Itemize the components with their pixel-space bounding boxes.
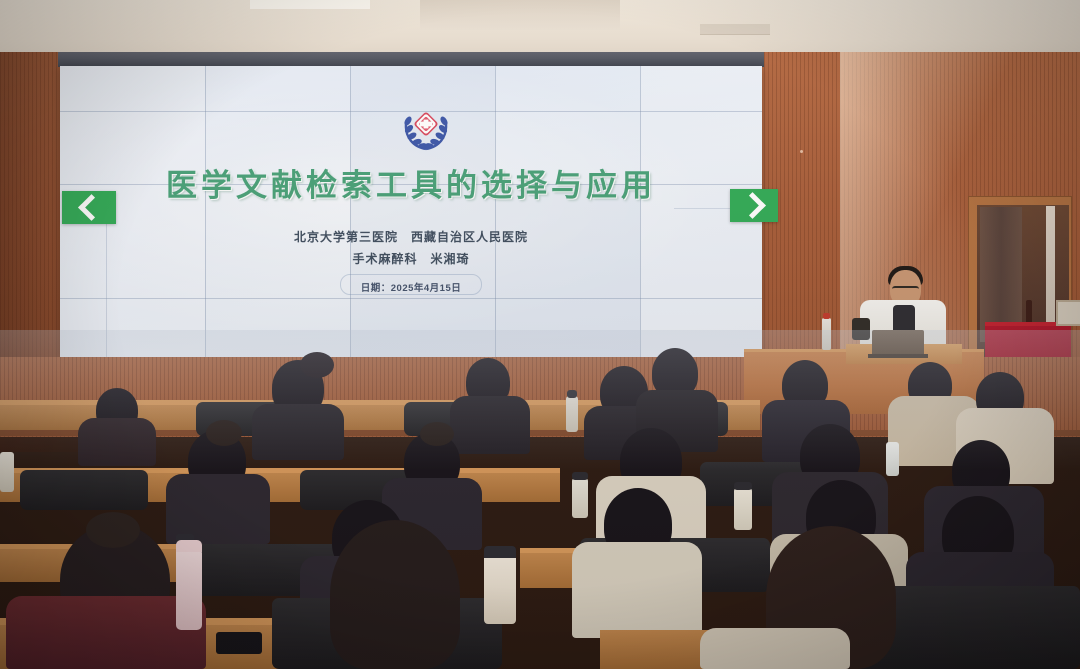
panel-seam: [60, 298, 762, 299]
panel-seam: [205, 66, 206, 357]
travel-mug: [484, 554, 516, 624]
screen-mount-beam: [58, 52, 764, 67]
thermos: [566, 396, 578, 432]
pink-thermos: [176, 548, 202, 630]
travel-mug: [572, 478, 588, 518]
panel-seam: [495, 66, 496, 357]
ceiling-light: [250, 0, 370, 9]
audience-hair-bun: [206, 420, 242, 446]
smartphone: [216, 632, 262, 654]
water-bottle: [886, 442, 899, 476]
pink-thermos-cap: [176, 540, 202, 552]
slide-date: 日期：2025年4月15日: [60, 280, 762, 294]
wall-speck: [800, 150, 803, 153]
audience-torso: [450, 396, 530, 454]
water-bottle: [822, 318, 831, 350]
thermos-cap: [567, 390, 577, 398]
audience-torso: [252, 404, 344, 460]
panel-seam: [350, 66, 351, 357]
hospital-emblem-laurel-cross-icon: [397, 103, 455, 153]
ceiling-vent: [700, 24, 770, 35]
audience-hair-bun: [86, 512, 140, 548]
bottle-cap: [823, 313, 830, 319]
chevron-left-icon: [78, 194, 105, 221]
slide-title: 医学文献检索工具的选择与应用: [60, 160, 762, 205]
laptop-base: [868, 354, 928, 358]
microphone: [852, 318, 870, 340]
travel-mug: [734, 488, 752, 530]
chair-back: [20, 470, 148, 510]
alcove-box: [1056, 300, 1080, 326]
audience-hair-bun: [420, 422, 454, 446]
audience-torso-beige: [572, 542, 702, 638]
prev-slide-button[interactable]: [62, 191, 116, 224]
next-slide-button[interactable]: [730, 189, 778, 222]
panel-seam: [640, 66, 641, 357]
slide-affiliation: 北京大学第三医院 西藏自治区人民医院: [60, 228, 762, 245]
audience-hair-bun: [300, 352, 334, 378]
travel-mug-lid: [572, 472, 588, 480]
ceiling-panel: [420, 0, 620, 30]
travel-mug-lid: [734, 482, 752, 490]
audience-head: [330, 520, 460, 669]
slide-department-presenter: 手术麻醉科 米湘琦: [60, 250, 762, 267]
audience-torso-cream: [700, 628, 850, 669]
presenter-laptop: [872, 330, 924, 356]
lecture-hall-photo: 医学文献检索工具的选择与应用 北京大学第三医院 西藏自治区人民医院 手术麻醉科 …: [0, 0, 1080, 669]
chevron-right-icon: [739, 192, 766, 219]
eyeglasses-icon: [892, 286, 919, 294]
wall-panel: [495, 184, 640, 357]
water-bottle: [0, 452, 14, 492]
travel-mug-lid: [484, 546, 516, 558]
audience-torso: [78, 418, 156, 466]
